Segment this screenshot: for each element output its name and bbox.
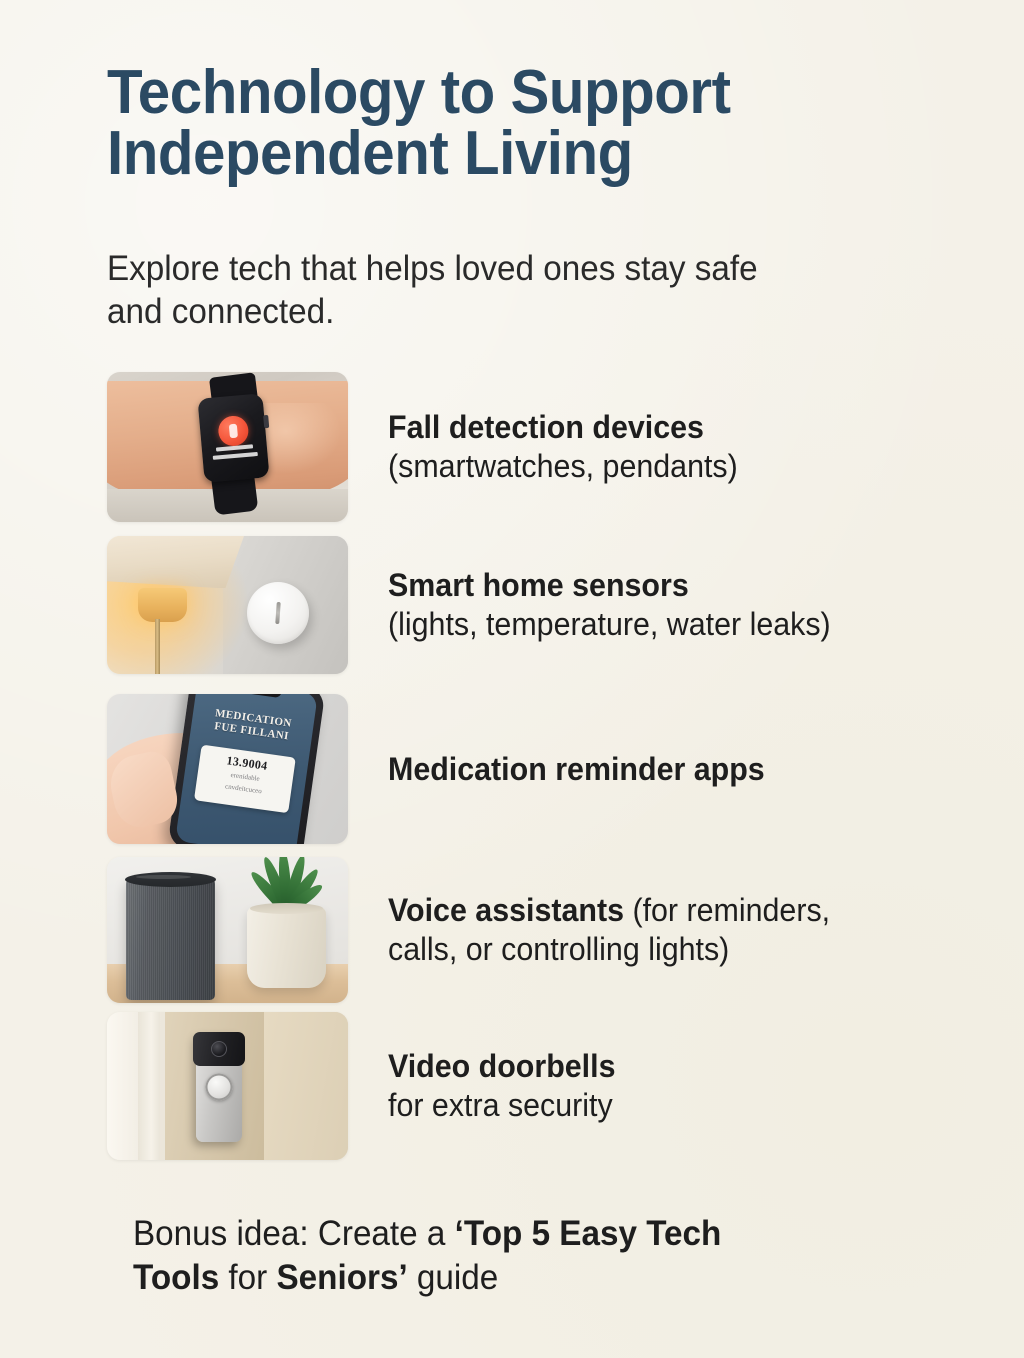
list-item-detail: (smartwatches, pendants)	[388, 447, 957, 486]
list-item-fall-detection: Fall detection devices (smartwatches, pe…	[107, 372, 987, 522]
bonus-line-2-tail: guide	[408, 1258, 499, 1297]
doorbell-icon	[196, 1033, 242, 1143]
smart-speaker-icon	[126, 877, 215, 1000]
list-item-detail: (for reminders,	[624, 892, 830, 928]
bonus-line-2-emphasis-a: Tools	[133, 1258, 219, 1297]
page-title: Technology to Support Independent Living	[107, 62, 887, 185]
poster-canvas: Technology to Support Independent Living…	[0, 0, 1024, 1358]
smartwatch-fall-detection-photo	[107, 372, 348, 522]
bonus-line-2-emphasis-b: Seniors’	[276, 1258, 407, 1297]
lamp-wall-sensor-photo	[107, 536, 348, 674]
page-subtitle-line-2: and connected.	[107, 291, 867, 334]
page-title-line-2: Independent Living	[107, 123, 887, 184]
page-title-line-1: Technology to Support	[107, 62, 887, 123]
list-item-text: Video doorbells for extra security	[388, 1047, 957, 1124]
list-item-text: Smart home sensors (lights, temperature,…	[388, 566, 957, 643]
smart-speaker-plant-photo	[107, 857, 348, 1003]
list-item-detail: (lights, temperature, water leaks)	[388, 605, 957, 644]
list-item-detail: for extra security	[388, 1086, 957, 1125]
phone-screen-card: 13.9004 erenidable cnvdeitcuceo	[194, 745, 296, 814]
video-doorbell-photo	[107, 1012, 348, 1160]
list-item-title: Voice assistants	[388, 892, 624, 928]
list-item-smart-home-sensors: Smart home sensors (lights, temperature,…	[107, 536, 987, 674]
list-item-title: Fall detection devices	[388, 408, 957, 447]
bonus-line-1: Bonus idea: Create a ‘Top 5 Easy Tech	[133, 1212, 922, 1256]
list-item-detail-2: calls, or controlling lights)	[388, 930, 957, 969]
list-item-title: Smart home sensors	[388, 566, 957, 605]
page-subtitle: Explore tech that helps loved ones stay …	[107, 248, 867, 333]
page-subtitle-line-1: Explore tech that helps loved ones stay …	[107, 248, 867, 291]
bonus-line-1-emphasis: ‘Top 5 Easy Tech	[455, 1214, 722, 1253]
bonus-line-2: Tools for Seniors’ guide	[133, 1256, 922, 1300]
list-item-text: Voice assistants (for reminders, calls, …	[388, 891, 957, 968]
phone-medication-app-photo: MEDICATION FUE FILLANI 13.9004 erenidabl…	[107, 694, 348, 844]
wall-sensor-icon	[247, 582, 309, 644]
list-item-voice-assistants: Voice assistants (for reminders, calls, …	[107, 857, 987, 1003]
list-item-medication-reminder: MEDICATION FUE FILLANI 13.9004 erenidabl…	[107, 694, 987, 844]
list-item-title: Medication reminder apps	[388, 750, 957, 789]
list-item-text: Medication reminder apps	[388, 750, 957, 789]
camera-lens-icon	[211, 1041, 227, 1057]
list-item-text: Fall detection devices (smartwatches, pe…	[388, 408, 957, 485]
list-item-title-line: Voice assistants (for reminders,	[388, 891, 957, 930]
fall-alert-icon	[217, 415, 250, 448]
bonus-idea-text: Bonus idea: Create a ‘Top 5 Easy Tech To…	[133, 1212, 922, 1300]
bonus-line-2-mid: for	[219, 1258, 276, 1297]
doorbell-button-icon	[206, 1074, 233, 1101]
list-item-title: Video doorbells	[388, 1047, 957, 1086]
bonus-line-1-lead: Bonus idea: Create a	[133, 1214, 455, 1253]
list-item-video-doorbells: Video doorbells for extra security	[107, 1012, 987, 1160]
